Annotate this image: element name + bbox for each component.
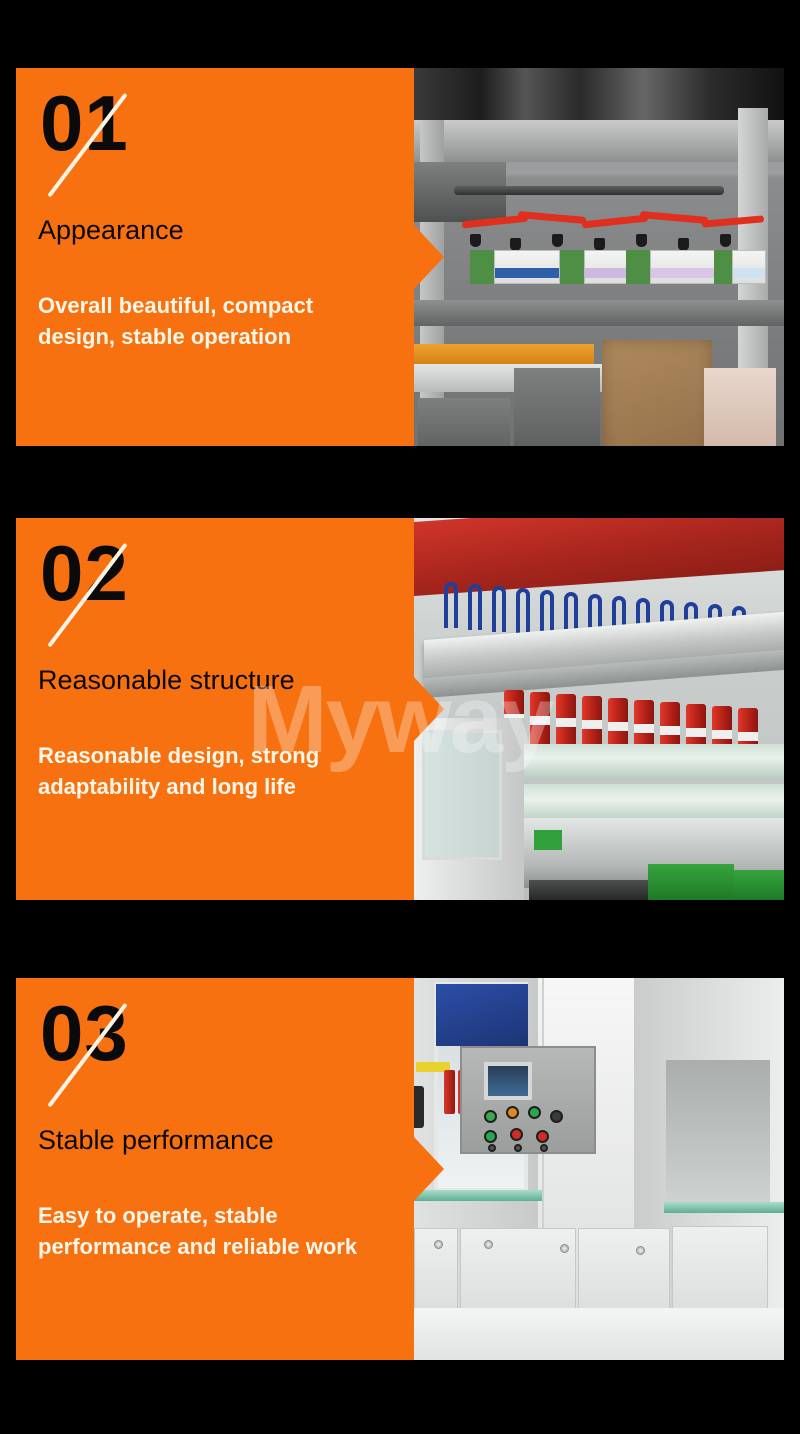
machine-photo-gripper-head: [414, 518, 784, 900]
feature-photo-01: [414, 68, 784, 446]
feature-title-01: Appearance: [38, 216, 388, 246]
feature-text-panel-01: 01 Appearance Overall beautiful, compact…: [16, 68, 414, 446]
feature-showcase-page: 01 Appearance Overall beautiful, compact…: [0, 0, 800, 1434]
feature-number-row-03: 03: [38, 1000, 388, 1122]
feature-card-01: 01 Appearance Overall beautiful, compact…: [16, 68, 784, 446]
feature-description-01: Overall beautiful, compact design, stabl…: [38, 290, 388, 352]
feature-text-panel-03: 03 Stable performance Easy to operate, s…: [16, 978, 414, 1360]
feature-text-panel-02: 02 Reasonable structure Reasonable desig…: [16, 518, 414, 900]
feature-card-03: 03 Stable performance Easy to operate, s…: [16, 978, 784, 1360]
arrow-notch-icon-01: [414, 225, 444, 289]
feature-title-02: Reasonable structure: [38, 666, 388, 696]
feature-title-03: Stable performance: [38, 1126, 388, 1156]
feature-description-03: Easy to operate, stable performance and …: [38, 1200, 388, 1262]
machine-photo-control-panel: [414, 978, 784, 1360]
feature-number-row-01: 01: [38, 90, 388, 212]
arrow-notch-icon-02: [414, 677, 444, 741]
feature-number-row-02: 02: [38, 540, 388, 662]
machine-photo-case-packer: [414, 68, 784, 446]
feature-description-02: Reasonable design, strong adaptability a…: [38, 740, 388, 802]
feature-photo-03: [414, 978, 784, 1360]
feature-card-02: 02 Reasonable structure Reasonable desig…: [16, 518, 784, 900]
arrow-notch-icon-03: [414, 1137, 444, 1201]
feature-photo-02: [414, 518, 784, 900]
